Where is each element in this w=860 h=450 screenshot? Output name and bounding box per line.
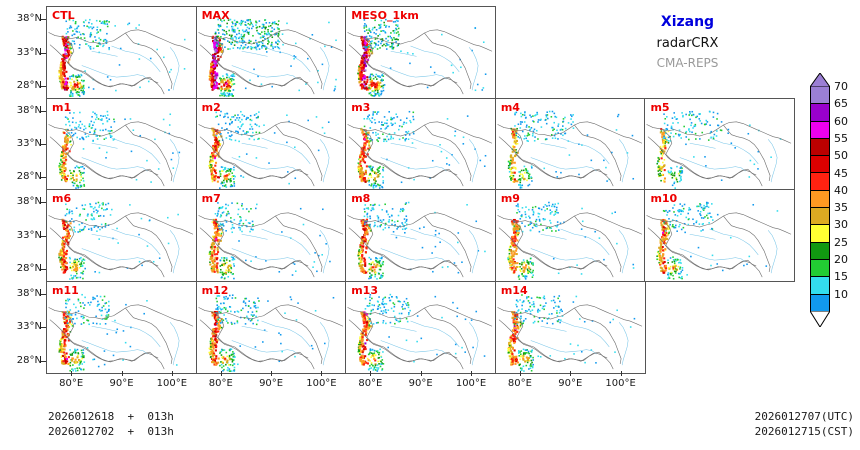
map-panel-ctl[interactable]: CTL: [46, 6, 197, 99]
panel-title-ctl: CTL: [52, 9, 75, 22]
panel-title-max: MAX: [202, 9, 230, 22]
panel-title-m2: m2: [202, 101, 221, 114]
x-axis-label: 90°E: [248, 378, 294, 389]
x-axis-tick: [271, 371, 272, 376]
panel-title-m5: m5: [650, 101, 669, 114]
panel-title-meso_1km: MESO_1km: [351, 9, 419, 22]
x-axis-label: 100°E: [448, 378, 494, 389]
x-axis-tick: [221, 371, 222, 376]
x-axis-label: 90°E: [99, 378, 145, 389]
colorbar-band: [810, 172, 830, 189]
y-axis-tick: [41, 53, 46, 54]
y-axis-tick: [41, 236, 46, 237]
panel-title-m6: m6: [52, 192, 71, 205]
footer-left-line1: 2026012618 + 013h: [48, 410, 174, 423]
x-axis-tick: [621, 371, 622, 376]
panel-title-m10: m10: [650, 192, 677, 205]
colorbar-tick-label: 65: [834, 98, 848, 109]
x-axis-label: 100°E: [298, 378, 344, 389]
x-axis-tick: [172, 371, 173, 376]
footer-right-line1: 2026012707(UTC): [755, 410, 854, 423]
map-panel-m13[interactable]: m13: [345, 281, 496, 374]
colorbar-tick-label: 50: [834, 150, 848, 161]
colorbar-band: [810, 155, 830, 172]
map-panel-m5[interactable]: m5: [644, 98, 795, 191]
x-axis-tick: [421, 371, 422, 376]
x-axis-label: 80°E: [347, 378, 393, 389]
map-panel-m8[interactable]: m8: [345, 189, 496, 282]
x-axis-label: 80°E: [497, 378, 543, 389]
map-panel-m7[interactable]: m7: [196, 189, 347, 282]
y-axis-tick: [41, 269, 46, 270]
y-axis-label: 33°N: [2, 230, 42, 241]
x-axis-label: 100°E: [598, 378, 644, 389]
panel-title-m14: m14: [501, 284, 528, 297]
y-axis-tick: [41, 202, 46, 203]
y-axis-tick: [41, 294, 46, 295]
x-axis-label: 90°E: [547, 378, 593, 389]
colorbar: 70656055504540353025201510: [810, 72, 830, 327]
colorbar-tick-label: 60: [834, 116, 848, 127]
panel-row-3: m6m7m8m9m10: [46, 189, 794, 281]
y-axis-label: 33°N: [2, 138, 42, 149]
colorbar-band: [810, 224, 830, 241]
colorbar-band: [810, 276, 830, 293]
panel-title-m8: m8: [351, 192, 370, 205]
colorbar-tick-label: 55: [834, 133, 848, 144]
panel-title-m13: m13: [351, 284, 378, 297]
map-panel-m4[interactable]: m4: [495, 98, 646, 191]
y-axis-label: 38°N: [2, 105, 42, 116]
x-axis-tick: [370, 371, 371, 376]
colorbar-tick-label: 45: [834, 168, 848, 179]
colorbar-tick-label: 40: [834, 185, 848, 196]
x-axis-label: 90°E: [398, 378, 444, 389]
map-panel-m2[interactable]: m2: [196, 98, 347, 191]
y-axis-label: 33°N: [2, 47, 42, 58]
map-panel-m10[interactable]: m10: [644, 189, 795, 282]
colorbar-tick-label: 15: [834, 271, 848, 282]
panel-title-m1: m1: [52, 101, 71, 114]
y-axis-tick: [41, 19, 46, 20]
map-panel-m12[interactable]: m12: [196, 281, 347, 374]
y-axis-label: 38°N: [2, 288, 42, 299]
map-panel-m1[interactable]: m1: [46, 98, 197, 191]
panel-title-m4: m4: [501, 101, 520, 114]
colorbar-band: [810, 207, 830, 224]
x-axis-tick: [71, 371, 72, 376]
legend-region-title: Xizang: [600, 14, 775, 30]
colorbar-band: [810, 190, 830, 207]
panel-title-m3: m3: [351, 101, 370, 114]
panel-title-m12: m12: [202, 284, 229, 297]
panel-title-m11: m11: [52, 284, 79, 297]
y-axis-tick: [41, 144, 46, 145]
map-panel-m6[interactable]: m6: [46, 189, 197, 282]
colorbar-band: [810, 138, 830, 155]
y-axis-label: 33°N: [2, 321, 42, 332]
x-axis-label: 80°E: [198, 378, 244, 389]
x-axis-tick: [321, 371, 322, 376]
map-panel-m11[interactable]: m11: [46, 281, 197, 374]
colorbar-extend-top: [810, 72, 830, 86]
colorbar-tick-label: 70: [834, 81, 848, 92]
y-axis-label: 28°N: [2, 355, 42, 366]
y-axis-tick: [41, 177, 46, 178]
x-axis-tick: [520, 371, 521, 376]
footer-left-line2: 2026012702 + 013h: [48, 425, 174, 438]
y-axis-tick: [41, 86, 46, 87]
legend-model-label: CMA-REPS: [600, 56, 775, 70]
panel-row-2: m1m2m3m4m5: [46, 98, 794, 190]
colorbar-band: [810, 259, 830, 276]
y-axis-label: 38°N: [2, 13, 42, 24]
x-axis-tick: [122, 371, 123, 376]
colorbar-tick-label: 30: [834, 219, 848, 230]
panel-title-m7: m7: [202, 192, 221, 205]
colorbar-band: [810, 103, 830, 120]
legend-variable-label: radarCRX: [600, 36, 775, 51]
colorbar-tick-label: 25: [834, 237, 848, 248]
map-panel-m14[interactable]: m14: [495, 281, 646, 374]
map-panel-m3[interactable]: m3: [345, 98, 496, 191]
y-axis-label: 28°N: [2, 263, 42, 274]
colorbar-band: [810, 294, 830, 311]
map-panel-max[interactable]: MAX: [196, 6, 347, 99]
colorbar-tick-label: 10: [834, 289, 848, 300]
panel-row-4: m11m12m13m14: [46, 281, 794, 373]
colorbar-tick-label: 20: [834, 254, 848, 265]
x-axis-label: 80°E: [48, 378, 94, 389]
x-axis-tick: [570, 371, 571, 376]
x-axis-tick: [471, 371, 472, 376]
x-axis-label: 100°E: [149, 378, 195, 389]
colorbar-tick-label: 35: [834, 202, 848, 213]
colorbar-band: [810, 86, 830, 103]
y-axis-tick: [41, 361, 46, 362]
y-axis-label: 28°N: [2, 80, 42, 91]
colorbar-band: [810, 242, 830, 259]
panel-title-m9: m9: [501, 192, 520, 205]
colorbar-extend-bottom: [810, 311, 830, 327]
map-panel-m9[interactable]: m9: [495, 189, 646, 282]
y-axis-tick: [41, 327, 46, 328]
footer-right-line2: 2026012715(CST): [755, 425, 854, 438]
map-panel-meso_1km[interactable]: MESO_1km: [345, 6, 496, 99]
y-axis-label: 38°N: [2, 196, 42, 207]
colorbar-band: [810, 121, 830, 138]
y-axis-tick: [41, 111, 46, 112]
y-axis-label: 28°N: [2, 171, 42, 182]
legend-block: Xizang radarCRX CMA-REPS: [600, 14, 775, 70]
